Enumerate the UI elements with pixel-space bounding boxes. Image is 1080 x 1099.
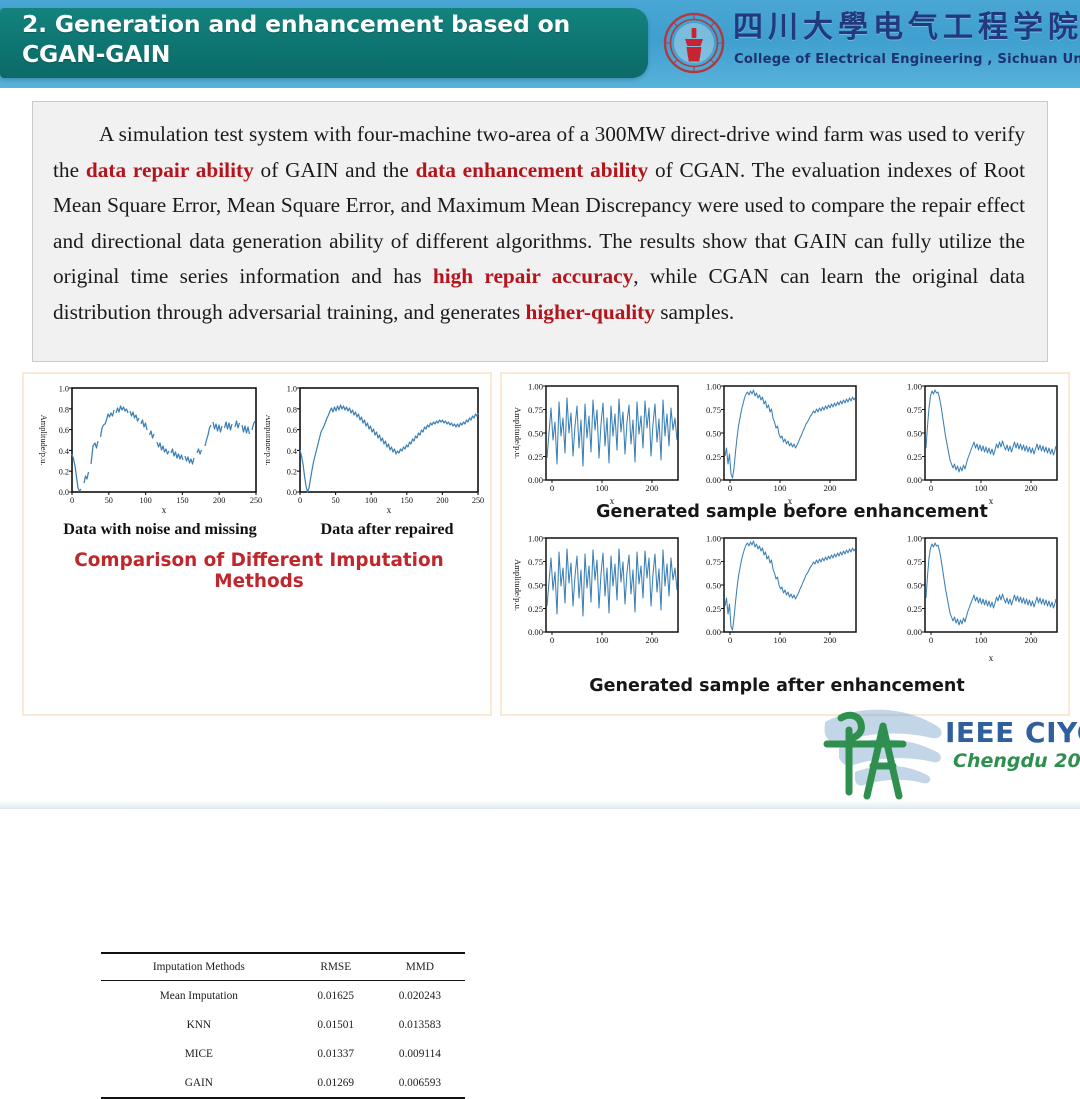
svg-text:0.75: 0.75 bbox=[528, 405, 543, 415]
svg-text:100: 100 bbox=[975, 635, 988, 645]
svg-text:100: 100 bbox=[596, 483, 609, 493]
svg-text:Amplitude/p.u.: Amplitude/p.u. bbox=[513, 407, 523, 459]
svg-text:0: 0 bbox=[550, 635, 554, 645]
conference-logo: IEEE CIYCEE Chengdu 2023 bbox=[805, 700, 1077, 805]
highlighted-phrase: high repair accuracy bbox=[433, 264, 633, 288]
svg-text:0.4: 0.4 bbox=[59, 447, 69, 456]
svg-text:100: 100 bbox=[774, 483, 787, 493]
svg-text:x: x bbox=[989, 653, 994, 663]
svg-text:0.0: 0.0 bbox=[287, 488, 297, 497]
cell-mmd: 0.009114 bbox=[375, 1039, 465, 1068]
svg-text:Amplitude/p.u.: Amplitude/p.u. bbox=[513, 559, 523, 611]
svg-text:0.50: 0.50 bbox=[528, 428, 543, 438]
svg-text:0.2: 0.2 bbox=[287, 468, 297, 477]
svg-text:0.00: 0.00 bbox=[706, 475, 721, 485]
chart-data-with-noise-and-missing: 1.00.8 0.60.4 0.20.0 050 100150 200250 x… bbox=[30, 380, 270, 514]
highlighted-phrase: higher-quality bbox=[526, 300, 655, 324]
svg-text:Amplitude/p.u.: Amplitude/p.u. bbox=[264, 415, 270, 466]
paragraph-text-run: samples. bbox=[655, 300, 734, 324]
svg-text:1.00: 1.00 bbox=[528, 533, 543, 543]
svg-text:0.25: 0.25 bbox=[706, 452, 721, 462]
table-row: KNN 0.01501 0.013583 bbox=[101, 1010, 465, 1039]
chart-generated-before-1: 1.000.75 0.500.25 0.00 0100200 x Amplitu… bbox=[500, 378, 690, 508]
svg-text:0.0: 0.0 bbox=[59, 488, 69, 497]
cell-mmd: 0.013583 bbox=[375, 1010, 465, 1039]
page-title: 2. Generation and enhancement based on C… bbox=[22, 9, 622, 69]
chart-generated-after-2: 1.000.75 0.500.25 0.00 0100200 bbox=[678, 530, 868, 660]
table-row: Mean Imputation 0.01625 0.020243 bbox=[101, 981, 465, 1011]
svg-text:250: 250 bbox=[250, 496, 262, 505]
chart-generated-after-1: 1.000.75 0.500.25 0.00 0100200 Amplitude… bbox=[500, 530, 690, 660]
caption-data-after-repaired: Data after repaired bbox=[292, 520, 482, 539]
svg-text:0.00: 0.00 bbox=[528, 475, 543, 485]
cell-method: Mean Imputation bbox=[101, 981, 297, 1011]
column-header-method: Imputation Methods bbox=[101, 953, 297, 981]
highlighted-phrase: data repair ability bbox=[86, 158, 254, 182]
svg-text:100: 100 bbox=[365, 496, 377, 505]
paragraph-text-run: of GAIN and the bbox=[254, 158, 416, 182]
chart-generated-before-3: 1.000.75 0.500.25 0.00 0100200 x bbox=[879, 378, 1069, 508]
svg-text:0.00: 0.00 bbox=[907, 475, 922, 485]
cell-rmse: 0.01269 bbox=[297, 1068, 375, 1098]
svg-text:0: 0 bbox=[298, 496, 302, 505]
svg-text:200: 200 bbox=[824, 483, 837, 493]
svg-text:0: 0 bbox=[728, 635, 732, 645]
chart-generated-before-2: 1.000.75 0.500.25 0.00 0100200 x bbox=[678, 378, 868, 508]
svg-text:100: 100 bbox=[139, 496, 151, 505]
svg-text:100: 100 bbox=[975, 483, 988, 493]
svg-text:0.25: 0.25 bbox=[907, 452, 922, 462]
svg-text:200: 200 bbox=[646, 635, 659, 645]
svg-text:0: 0 bbox=[70, 496, 74, 505]
svg-text:50: 50 bbox=[105, 496, 113, 505]
svg-text:0.00: 0.00 bbox=[528, 627, 543, 637]
svg-text:200: 200 bbox=[824, 635, 837, 645]
svg-text:200: 200 bbox=[1025, 635, 1038, 645]
svg-text:0.00: 0.00 bbox=[907, 627, 922, 637]
svg-text:0.75: 0.75 bbox=[706, 557, 721, 567]
generated-samples-panel: 1.000.75 0.500.25 0.00 0100200 x Amplitu… bbox=[500, 372, 1070, 716]
svg-text:0: 0 bbox=[728, 483, 732, 493]
svg-text:0.4: 0.4 bbox=[287, 447, 297, 456]
svg-text:0.6: 0.6 bbox=[59, 426, 69, 435]
svg-text:200: 200 bbox=[1025, 483, 1038, 493]
highlighted-phrase: data enhancement ability bbox=[416, 158, 649, 182]
caption-generated-after-enhancement: Generated sample after enhancement bbox=[552, 676, 1002, 696]
caption-data-with-noise: Data with noise and missing bbox=[40, 520, 280, 539]
table-title: Comparison of Different Imputation Metho… bbox=[34, 550, 484, 592]
imputation-comparison-table: Imputation Methods RMSE MMD Mean Imputat… bbox=[101, 952, 465, 1099]
svg-text:0: 0 bbox=[550, 483, 554, 493]
svg-text:Amplitude/p.u.: Amplitude/p.u. bbox=[39, 415, 48, 466]
svg-text:0.50: 0.50 bbox=[706, 428, 721, 438]
svg-text:0.75: 0.75 bbox=[907, 405, 922, 415]
svg-text:200: 200 bbox=[646, 483, 659, 493]
svg-text:0: 0 bbox=[929, 483, 933, 493]
cell-rmse: 0.01501 bbox=[297, 1010, 375, 1039]
cell-method: GAIN bbox=[101, 1068, 297, 1098]
table-header-row: Imputation Methods RMSE MMD bbox=[101, 953, 465, 981]
svg-text:0: 0 bbox=[929, 635, 933, 645]
footer-divider bbox=[0, 800, 1080, 809]
svg-text:100: 100 bbox=[596, 635, 609, 645]
svg-text:150: 150 bbox=[176, 496, 188, 505]
sichuan-university-seal-icon bbox=[663, 12, 725, 74]
svg-text:0.50: 0.50 bbox=[907, 580, 922, 590]
chart-data-after-repaired: 1.00.8 0.60.4 0.20.0 050 100150 200250 x bbox=[274, 380, 488, 514]
university-logo: 四川大學电气工程学院 College of Electrical Enginee… bbox=[663, 6, 1073, 82]
column-header-mmd: MMD bbox=[375, 953, 465, 981]
svg-text:x: x bbox=[387, 505, 392, 514]
table-row: GAIN 0.01269 0.006593 bbox=[101, 1068, 465, 1098]
table-row: MICE 0.01337 0.009114 bbox=[101, 1039, 465, 1068]
svg-text:1.00: 1.00 bbox=[706, 533, 721, 543]
conference-name-text: IEEE CIYCEE bbox=[945, 716, 1080, 749]
cell-rmse: 0.01625 bbox=[297, 981, 375, 1011]
svg-text:0.75: 0.75 bbox=[907, 557, 922, 567]
imputation-results-panel: 1.00.8 0.60.4 0.20.0 050 100150 200250 x… bbox=[22, 372, 492, 716]
university-name-en: College of Electrical Engineering , Sich… bbox=[734, 52, 1080, 67]
svg-text:100: 100 bbox=[774, 635, 787, 645]
svg-text:250: 250 bbox=[472, 496, 484, 505]
svg-text:0.50: 0.50 bbox=[528, 580, 543, 590]
svg-text:1.00: 1.00 bbox=[528, 381, 543, 391]
svg-text:0.8: 0.8 bbox=[59, 405, 69, 414]
description-text: A simulation test system with four-machi… bbox=[33, 102, 1047, 330]
svg-text:1.0: 1.0 bbox=[287, 385, 297, 394]
cell-mmd: 0.020243 bbox=[375, 981, 465, 1011]
svg-text:50: 50 bbox=[332, 496, 340, 505]
svg-text:0.25: 0.25 bbox=[528, 452, 543, 462]
description-panel: A simulation test system with four-machi… bbox=[32, 101, 1048, 362]
svg-text:1.00: 1.00 bbox=[907, 381, 922, 391]
svg-text:0.75: 0.75 bbox=[706, 405, 721, 415]
svg-text:1.0: 1.0 bbox=[59, 385, 69, 394]
conference-place-text: Chengdu 2023 bbox=[953, 750, 1080, 772]
cell-method: MICE bbox=[101, 1039, 297, 1068]
svg-text:0.25: 0.25 bbox=[907, 604, 922, 614]
svg-text:200: 200 bbox=[436, 496, 448, 505]
svg-text:1.00: 1.00 bbox=[706, 381, 721, 391]
svg-text:0.75: 0.75 bbox=[528, 557, 543, 567]
svg-text:0.2: 0.2 bbox=[59, 468, 69, 477]
svg-text:0.25: 0.25 bbox=[706, 604, 721, 614]
svg-text:0.8: 0.8 bbox=[287, 405, 297, 414]
cell-rmse: 0.01337 bbox=[297, 1039, 375, 1068]
svg-text:0.25: 0.25 bbox=[528, 604, 543, 614]
cell-mmd: 0.006593 bbox=[375, 1068, 465, 1098]
caption-generated-before-enhancement: Generated sample before enhancement bbox=[552, 502, 1032, 522]
svg-text:0.50: 0.50 bbox=[706, 580, 721, 590]
svg-text:200: 200 bbox=[213, 496, 225, 505]
svg-text:0.6: 0.6 bbox=[287, 426, 297, 435]
university-name-cn: 四川大學电气工程学院 bbox=[733, 8, 1080, 48]
svg-text:0.00: 0.00 bbox=[706, 627, 721, 637]
svg-text:150: 150 bbox=[401, 496, 413, 505]
chart-generated-after-3: 1.000.75 0.500.25 0.00 0100200 x bbox=[879, 530, 1069, 666]
column-header-rmse: RMSE bbox=[297, 953, 375, 981]
slide-header: 2. Generation and enhancement based on C… bbox=[0, 0, 1080, 88]
svg-text:x: x bbox=[162, 505, 167, 514]
cell-method: KNN bbox=[101, 1010, 297, 1039]
svg-text:0.50: 0.50 bbox=[907, 428, 922, 438]
svg-text:1.00: 1.00 bbox=[907, 533, 922, 543]
